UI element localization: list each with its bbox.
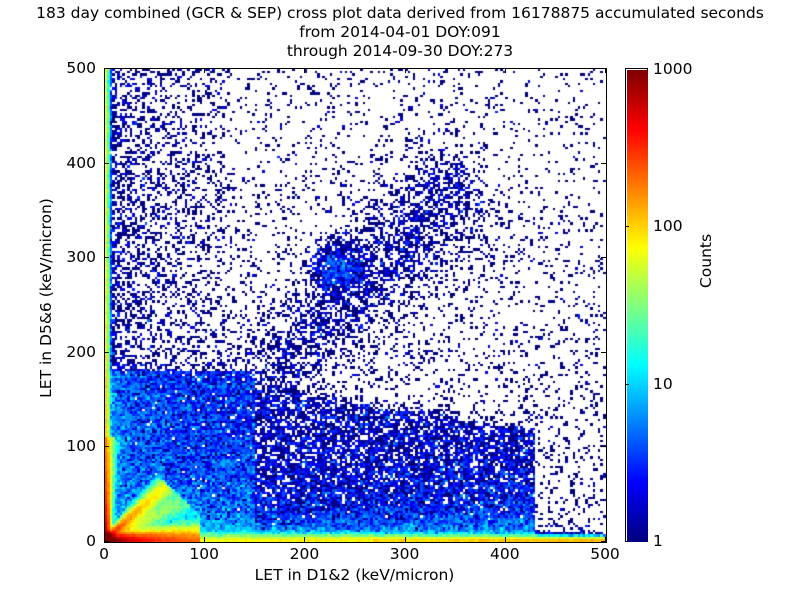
y-tick-mark xyxy=(104,541,109,542)
x-tick-mark xyxy=(405,537,406,542)
colorbar-tick-label: 10 xyxy=(653,375,673,393)
colorbar-tick-label: 1 xyxy=(653,532,663,550)
y-tick-mark xyxy=(104,446,109,447)
y-tick-mark-right xyxy=(601,163,606,164)
density-scatter-canvas xyxy=(105,69,606,542)
x-axis-label: LET in D1&2 (keV/micron) xyxy=(104,566,605,584)
colorbar-canvas xyxy=(627,70,648,542)
x-tick-label: 0 xyxy=(99,545,109,563)
x-tick-label: 200 xyxy=(290,545,320,563)
colorbar-tick-label: 1000 xyxy=(653,60,692,78)
title-line-1: 183 day combined (GCR & SEP) cross plot … xyxy=(0,4,800,23)
x-tick-label: 500 xyxy=(590,545,620,563)
y-tick-mark xyxy=(104,163,109,164)
y-tick-label: 500 xyxy=(28,59,96,77)
y-tick-mark-right xyxy=(601,68,606,69)
colorbar-tick-label: 100 xyxy=(653,217,683,235)
y-tick-mark-right xyxy=(601,352,606,353)
x-tick-mark xyxy=(304,537,305,542)
x-tick-mark-top xyxy=(405,68,406,73)
y-tick-label: 0 xyxy=(28,532,96,550)
x-tick-mark-top xyxy=(304,68,305,73)
x-tick-mark-top xyxy=(505,68,506,73)
x-tick-label: 100 xyxy=(189,545,219,563)
colorbar-tick-mark xyxy=(625,384,629,385)
colorbar: 1101001000 xyxy=(625,68,648,542)
x-tick-mark xyxy=(505,537,506,542)
x-tick-mark-top xyxy=(204,68,205,73)
x-tick-mark xyxy=(204,537,205,542)
plot-title: 183 day combined (GCR & SEP) cross plot … xyxy=(0,4,800,61)
y-tick-mark-right xyxy=(601,541,606,542)
title-line-3: through 2014-09-30 DOY:273 xyxy=(0,42,800,61)
plot-area xyxy=(104,68,607,543)
colorbar-label: Counts xyxy=(697,171,715,351)
y-tick-mark xyxy=(104,68,109,69)
x-tick-label: 300 xyxy=(390,545,420,563)
colorbar-gradient xyxy=(625,68,648,542)
x-tick-label: 400 xyxy=(490,545,520,563)
y-tick-mark-right xyxy=(601,257,606,258)
y-tick-mark xyxy=(104,257,109,258)
figure-canvas: 183 day combined (GCR & SEP) cross plot … xyxy=(0,0,800,600)
y-tick-mark xyxy=(104,352,109,353)
colorbar-tick-mark xyxy=(625,226,629,227)
y-tick-mark-right xyxy=(601,446,606,447)
title-line-2: from 2014-04-01 DOY:091 xyxy=(0,23,800,42)
y-axis-label: LET in D5&6 (keV/micron) xyxy=(37,148,55,448)
